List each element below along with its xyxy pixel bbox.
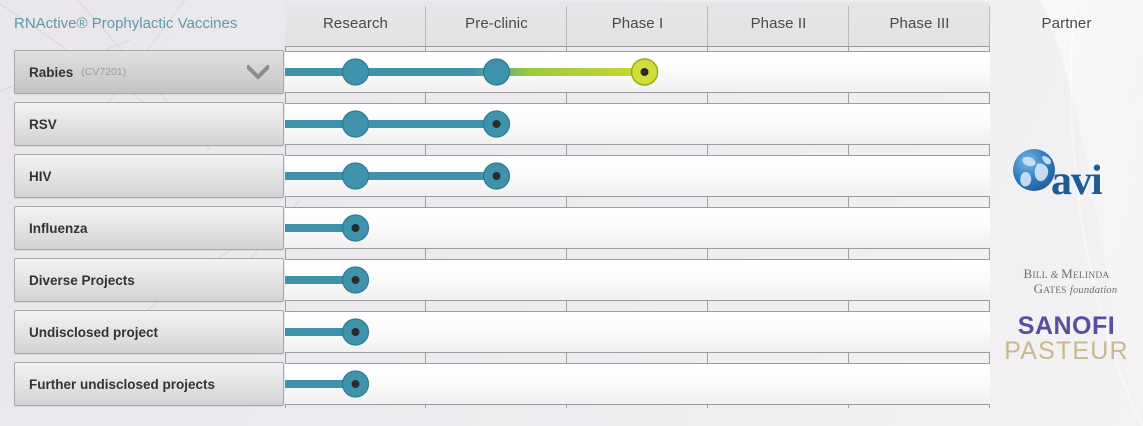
milestone-marker-research[interactable] <box>343 59 369 85</box>
milestone-center-dot <box>641 68 649 76</box>
chevron-down-icon[interactable] <box>247 65 269 79</box>
progress-bar-layer <box>285 46 990 98</box>
partner-logo-gates-foundation: BILL & MELINDA GATES foundation <box>990 258 1143 306</box>
milestone-marker-research[interactable] <box>343 215 369 241</box>
milestone-center-dot <box>352 276 360 284</box>
progress-bar-layer <box>285 150 990 202</box>
milestone-center-dot <box>352 380 360 388</box>
row-label-diverse-projects[interactable]: Diverse Projects <box>14 258 284 302</box>
row-label-rabies[interactable]: Rabies(CV7201) <box>14 50 284 94</box>
pipeline-row: Diverse Projects <box>0 254 1143 306</box>
progress-bar-layer <box>285 98 990 150</box>
progress-bar-layer <box>285 358 990 410</box>
progress-bar-layer <box>285 306 990 358</box>
milestone-center-dot <box>352 328 360 336</box>
milestone-center-dot <box>493 172 501 180</box>
milestone-marker-research[interactable] <box>343 371 369 397</box>
row-label-further-undisclosed-projects[interactable]: Further undisclosed projects <box>14 362 284 406</box>
partner-logo-sanofi-pasteur: SANOFI PASTEUR <box>990 308 1143 370</box>
milestone-marker-pre-clinic[interactable] <box>484 163 510 189</box>
row-name: Diverse Projects <box>29 273 135 288</box>
milestone-center-dot <box>493 120 501 128</box>
page-title: RNActive® Prophylactic Vaccines <box>14 0 284 46</box>
pasteur-wordmark: PASTEUR <box>1004 339 1129 364</box>
milestone-marker-pre-clinic[interactable] <box>484 59 510 85</box>
row-code: (CV7201) <box>81 66 126 78</box>
row-name: Further undisclosed projects <box>29 377 215 392</box>
pipeline-chart: RNActive® Prophylactic Vaccines Research… <box>0 0 1143 426</box>
gates-line-1: BILL & MELINDA <box>1016 267 1118 282</box>
header-divider <box>566 6 567 46</box>
pipeline-row: RSV <box>0 98 1143 150</box>
progress-bar <box>285 172 497 180</box>
column-header-pre-clinic: Pre-clinic <box>426 0 567 46</box>
header-divider <box>425 6 426 46</box>
row-label-hiv[interactable]: HIV <box>14 154 284 198</box>
row-name: HIV <box>29 169 52 184</box>
column-header-research: Research <box>285 0 426 46</box>
header-divider <box>707 6 708 46</box>
milestone-marker-research[interactable] <box>343 111 369 137</box>
column-header-partner: Partner <box>990 0 1143 46</box>
row-label-influenza[interactable]: Influenza <box>14 206 284 250</box>
row-label-rsv[interactable]: RSV <box>14 102 284 146</box>
gates-line-2: GATES foundation <box>1016 282 1118 297</box>
row-name: Influenza <box>29 221 88 236</box>
row-label-undisclosed-project[interactable]: Undisclosed project <box>14 310 284 354</box>
milestone-marker-research[interactable] <box>343 163 369 189</box>
pipeline-row: Undisclosed project <box>0 306 1143 358</box>
pipeline-row: Rabies(CV7201) <box>0 46 1143 98</box>
milestone-marker-research[interactable] <box>343 267 369 293</box>
milestone-marker-phase-i[interactable] <box>632 59 658 85</box>
pipeline-row: HIV <box>0 150 1143 202</box>
row-name: Rabies <box>29 65 73 80</box>
header-divider <box>848 6 849 46</box>
row-name: Undisclosed project <box>29 325 158 340</box>
column-header-phase-ii: Phase II <box>708 0 849 46</box>
column-header-phase-iii: Phase III <box>849 0 990 46</box>
progress-bar-layer <box>285 254 990 306</box>
milestone-center-dot <box>352 224 360 232</box>
milestone-marker-research[interactable] <box>343 319 369 345</box>
progress-bar <box>285 68 645 76</box>
milestone-marker-pre-clinic[interactable] <box>484 111 510 137</box>
partner-column: avi BILL & MELINDA GATES foundation SANO… <box>990 46 1143 408</box>
sanofi-wordmark: SANOFI <box>1004 314 1129 339</box>
svg-text:avi: avi <box>1051 158 1103 204</box>
progress-bar-layer <box>285 202 990 254</box>
header-divider <box>989 6 990 46</box>
row-name: RSV <box>29 117 57 132</box>
progress-bar <box>285 120 497 128</box>
partner-logo-iavi: avi <box>990 140 1143 210</box>
pipeline-row: Influenza <box>0 202 1143 254</box>
pipeline-header: RNActive® Prophylactic Vaccines Research… <box>0 0 1143 46</box>
column-header-phase-i: Phase I <box>567 0 708 46</box>
pipeline-row: Further undisclosed projects <box>0 358 1143 410</box>
